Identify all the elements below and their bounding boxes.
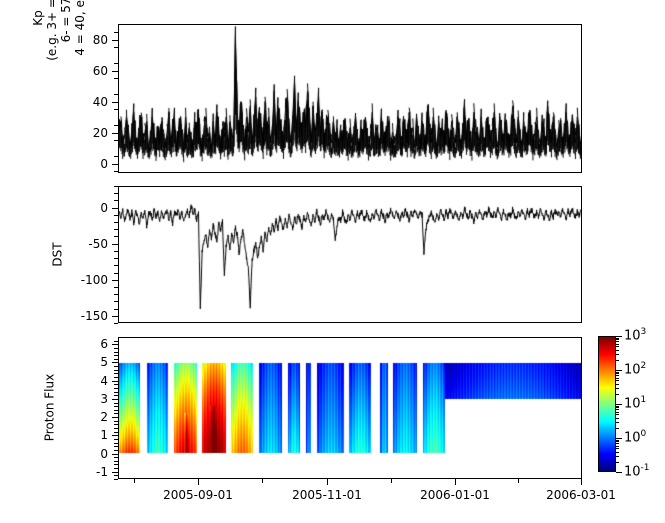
tick-mark [327, 479, 328, 485]
tick-mark [616, 373, 619, 374]
colorbar-tick-mantissa: 10 [624, 396, 641, 411]
kp-panel [118, 24, 582, 173]
tick-mark [114, 424, 118, 425]
kp-ylabel-line-0: Kp [31, 0, 45, 98]
x-tick-label: 2006-03-01 [526, 489, 636, 501]
tick-mark [616, 438, 622, 439]
tick-mark [114, 410, 118, 411]
tick-mark [616, 350, 619, 351]
tick-mark [616, 422, 619, 423]
tick-mark [616, 378, 619, 379]
tick-mark [114, 323, 118, 324]
tick-mark [114, 359, 118, 360]
tick-mark [114, 301, 118, 302]
colorbar-tick-label: 10-1 [624, 464, 650, 478]
tick-mark [114, 421, 118, 422]
tick-mark [114, 251, 118, 252]
tick-mark [616, 404, 622, 405]
tick-mark [114, 341, 118, 342]
colorbar-tick-mantissa: 10 [624, 430, 641, 445]
proton-panel [118, 337, 582, 479]
tick-mark [114, 428, 118, 429]
tick-mark [114, 403, 118, 404]
tick-mark [114, 373, 118, 374]
figure-root: 020406080 Kp(e.g. 3+ = 33,6- = 57,4 = 40… [0, 0, 665, 523]
tick-mark [616, 388, 619, 389]
colorbar-tick-exponent: 1 [641, 395, 647, 405]
tick-mark [262, 479, 263, 483]
tick-mark [114, 294, 118, 295]
tick-mark [114, 443, 118, 444]
tick-mark [114, 454, 118, 455]
y-tick-label: 6 [48, 338, 108, 350]
tick-mark [455, 479, 456, 485]
tick-mark [114, 464, 118, 465]
tick-mark [114, 352, 118, 353]
tick-mark [114, 265, 118, 266]
tick-mark [114, 475, 118, 476]
proton-flux-spectrogram [119, 338, 581, 478]
tick-mark [616, 412, 619, 413]
tick-mark [616, 446, 619, 447]
colorbar-tick-label: 101 [624, 396, 646, 410]
kp-ylabel-line-2: 6- = 57, [59, 0, 73, 98]
tick-mark [114, 457, 118, 458]
y-tick-label: 3 [48, 393, 108, 405]
tick-mark [114, 432, 118, 433]
tick-mark [114, 280, 118, 281]
tick-mark [616, 344, 619, 345]
tick-mark [518, 479, 519, 483]
tick-mark [114, 362, 118, 363]
tick-mark [114, 193, 118, 194]
tick-mark [616, 472, 622, 473]
tick-mark [114, 287, 118, 288]
tick-mark [198, 479, 199, 485]
tick-mark [114, 355, 118, 356]
colorbar-tick-mantissa: 10 [624, 464, 641, 479]
tick-mark [616, 372, 619, 373]
tick-mark [114, 377, 118, 378]
x-tick-label: 2005-11-01 [272, 489, 382, 501]
tick-mark [616, 370, 622, 371]
y-tick-label: 5 [48, 356, 108, 368]
tick-mark [114, 472, 118, 473]
tick-mark [114, 273, 118, 274]
proton-y-axis-label: Proton Flux [44, 348, 57, 468]
tick-mark [114, 435, 118, 436]
tick-mark [114, 236, 118, 237]
tick-mark [616, 375, 619, 376]
tick-mark [114, 309, 118, 310]
colorbar-tick-mantissa: 10 [624, 362, 641, 377]
tick-mark [616, 448, 619, 449]
tick-mark [134, 479, 135, 483]
tick-mark [114, 370, 118, 371]
y-tick-label: 0 [48, 448, 108, 460]
y-tick-label: 4 [48, 375, 108, 387]
tick-mark [114, 479, 118, 480]
kp-ylabel-line-3: 4 = 40, etc.) [73, 0, 87, 98]
tick-mark [616, 339, 619, 340]
dst-y-axis-label: DST [52, 194, 65, 314]
tick-mark [114, 208, 118, 209]
tick-mark [114, 222, 118, 223]
tick-mark [616, 338, 619, 339]
tick-mark [616, 407, 619, 408]
tick-mark [616, 441, 619, 442]
tick-mark [114, 399, 118, 400]
y-tick-label: 2 [48, 411, 108, 423]
tick-mark [581, 479, 582, 485]
tick-mark [114, 384, 118, 385]
tick-mark [616, 409, 619, 410]
tick-mark [114, 417, 118, 418]
x-tick-label: 2005-09-01 [143, 489, 253, 501]
tick-mark [114, 388, 118, 389]
dst-series-plot [119, 187, 581, 322]
tick-mark [114, 316, 118, 317]
tick-mark [114, 344, 118, 345]
tick-mark [616, 414, 619, 415]
tick-mark [114, 446, 118, 447]
tick-mark [114, 450, 118, 451]
tick-mark [114, 439, 118, 440]
dst-panel [118, 186, 582, 323]
tick-mark [616, 346, 619, 347]
tick-mark [114, 200, 118, 201]
tick-mark [616, 406, 619, 407]
tick-mark [616, 456, 619, 457]
tick-mark [616, 443, 619, 444]
tick-mark [114, 395, 118, 396]
tick-mark [114, 381, 118, 382]
tick-mark [616, 452, 619, 453]
tick-mark [616, 360, 619, 361]
tick-mark [114, 215, 118, 216]
tick-mark [616, 336, 622, 337]
colorbar [598, 336, 616, 472]
colorbar-tick-exponent: -1 [641, 463, 650, 473]
tick-mark [114, 186, 118, 187]
tick-mark [114, 244, 118, 245]
tick-mark [616, 428, 619, 429]
colorbar-tick-label: 102 [624, 362, 646, 376]
tick-mark [114, 366, 118, 367]
kp-y-axis-label: Kp(e.g. 3+ = 33,6- = 57,4 = 40, etc.) [0, 0, 120, 200]
tick-mark [391, 479, 392, 483]
y-tick-label: -1 [48, 466, 108, 478]
tick-mark [616, 462, 619, 463]
colorbar-tick-exponent: 0 [641, 429, 647, 439]
colorbar-tick-label: 100 [624, 430, 646, 444]
colorbar-tick-exponent: 3 [641, 327, 647, 337]
colorbar-tick-label: 103 [624, 328, 646, 342]
tick-mark [114, 348, 118, 349]
colorbar-tick-mantissa: 10 [624, 328, 641, 343]
colorbar-tick-exponent: 2 [641, 361, 647, 371]
tick-mark [616, 440, 619, 441]
tick-mark [114, 392, 118, 393]
tick-mark [114, 406, 118, 407]
tick-mark [114, 229, 118, 230]
tick-mark [114, 468, 118, 469]
tick-mark [114, 258, 118, 259]
y-tick-label: 1 [48, 429, 108, 441]
tick-mark [114, 461, 118, 462]
tick-mark [616, 380, 619, 381]
tick-mark [616, 354, 619, 355]
tick-mark [616, 384, 619, 385]
tick-mark [114, 413, 118, 414]
tick-mark [616, 394, 619, 395]
x-tick-label: 2006-01-01 [400, 489, 510, 501]
tick-mark [616, 341, 619, 342]
kp-series-plot [119, 25, 581, 172]
tick-mark [616, 418, 619, 419]
kp-ylabel-line-1: (e.g. 3+ = 33, [45, 0, 59, 98]
